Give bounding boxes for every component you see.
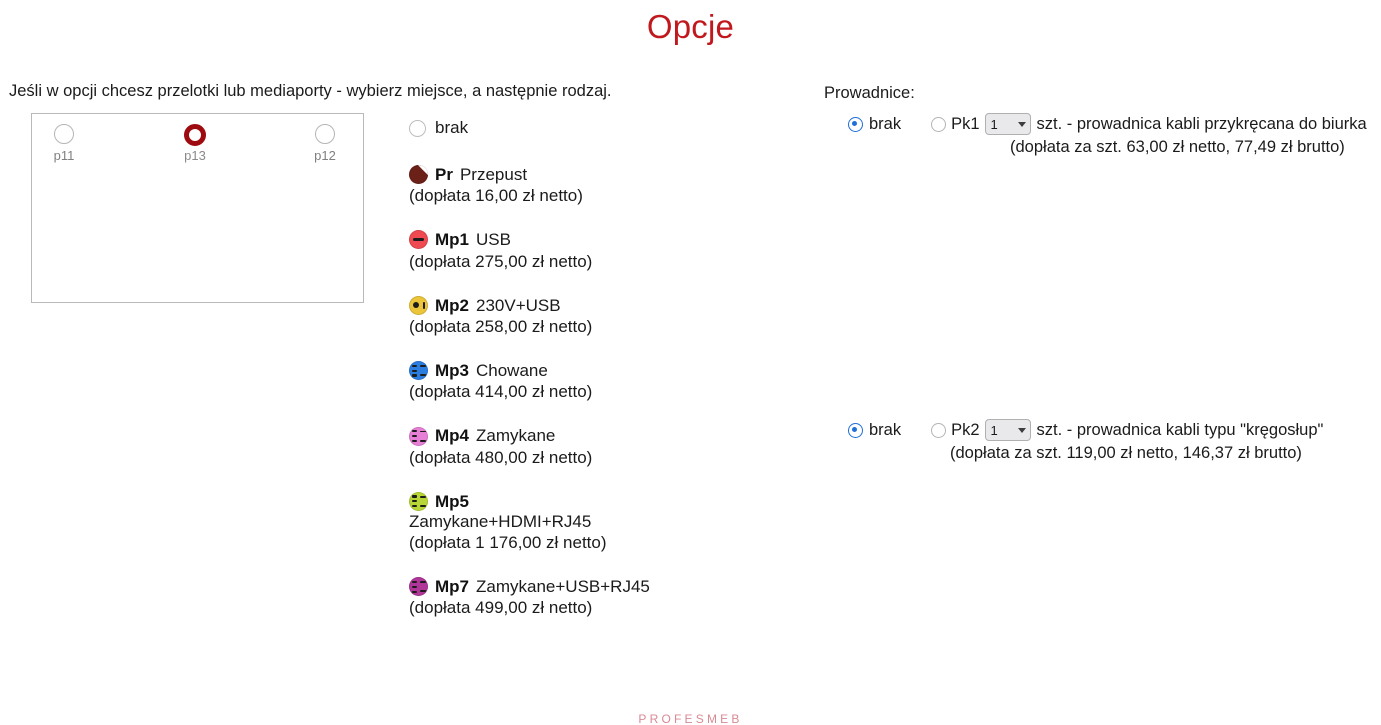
guide-price-pk2: (dopłata za szt. 119,00 zł netto, 146,37… — [824, 444, 1381, 463]
pr-pie-icon — [409, 165, 428, 184]
mediaport-option-mp1[interactable]: Mp1 USB (dopłata 275,00 zł netto) — [409, 229, 799, 272]
guide-qty-select-pk1[interactable]: 1 — [985, 113, 1031, 135]
mediaport-code-mp2: Mp2 — [435, 295, 469, 316]
mediaport-option-none[interactable]: brak — [409, 118, 799, 138]
guide-qty-value-pk2: 1 — [991, 423, 998, 438]
guide-qty-value-pk1: 1 — [991, 117, 998, 132]
mediaport-desc-pr: Przepust — [460, 164, 527, 185]
options-page: Opcje Jeśli w opcji chcesz przelotki lub… — [0, 0, 1381, 725]
mediaport-radio-none[interactable] — [409, 120, 426, 137]
placement-option-p13[interactable]: p13 — [165, 124, 225, 163]
placement-label-p12: p12 — [295, 148, 355, 163]
mediaport-label-none: brak — [435, 118, 468, 138]
mediaport-price-mp5: (dopłata 1 176,00 zł netto) — [409, 532, 799, 554]
guide-label-none-pk2: brak — [869, 421, 901, 440]
mediaport-price-mp7: (dopłata 499,00 zł netto) — [409, 597, 799, 619]
mediaport-price-mp4: (dopłata 480,00 zł netto) — [409, 447, 799, 469]
placement-radio-p13[interactable] — [184, 124, 206, 146]
placement-label-p13: p13 — [165, 148, 225, 163]
placement-radio-p12[interactable] — [315, 124, 335, 144]
footer-brand: PROFESMEB — [0, 712, 1381, 725]
guides-section: Prowadnice: brak Pk1 1 szt. - prowadnica… — [824, 84, 1381, 463]
guides-heading: Prowadnice: — [824, 84, 1381, 103]
placement-option-p11[interactable]: p11 — [34, 124, 94, 163]
mediaport-option-pr[interactable]: Pr Przepust (dopłata 16,00 zł netto) — [409, 164, 799, 207]
mediaport-options-list: brak Pr Przepust (dopłata 16,00 zł netto… — [409, 118, 799, 641]
mediaport-price-pr: (dopłata 16,00 zł netto) — [409, 185, 799, 207]
mediaport-option-mp3[interactable]: Mp3 Chowane (dopłata 414,00 zł netto) — [409, 360, 799, 403]
mediaport-option-mp4[interactable]: Mp4 Zamykane (dopłata 480,00 zł netto) — [409, 425, 799, 468]
guide-unit-text-pk2: szt. - prowadnica kabli typu "kręgosłup" — [1037, 421, 1324, 440]
guide-label-none-pk1: brak — [869, 115, 901, 134]
mediaport-desc-mp2: 230V+USB — [476, 295, 561, 316]
chevron-down-icon — [1018, 122, 1026, 127]
mediaport-code-mp4: Mp4 — [435, 425, 469, 446]
guide-unit-text-pk1: szt. - prowadnica kabli przykręcana do b… — [1037, 115, 1367, 134]
mp5-hdmi-icon — [409, 492, 428, 511]
mediaport-desc-mp5: Zamykane+HDMI+RJ45 — [409, 512, 799, 532]
mp1-usb-icon — [409, 230, 428, 249]
mediaport-option-mp5[interactable]: Mp5 Zamykane+HDMI+RJ45 (dopłata 1 176,00… — [409, 491, 799, 554]
placement-radio-p11[interactable] — [54, 124, 74, 144]
mediaport-price-mp3: (dopłata 414,00 zł netto) — [409, 381, 799, 403]
mediaport-code-mp7: Mp7 — [435, 576, 469, 597]
chevron-down-icon — [1018, 428, 1026, 433]
mediaport-desc-mp1: USB — [476, 229, 511, 250]
placement-option-p12[interactable]: p12 — [295, 124, 355, 163]
mediaport-code-mp1: Mp1 — [435, 229, 469, 250]
mediaport-price-mp2: (dopłata 258,00 zł netto) — [409, 316, 799, 338]
guide-price-pk1: (dopłata za szt. 63,00 zł netto, 77,49 z… — [824, 138, 1381, 157]
mediaport-desc-mp7: Zamykane+USB+RJ45 — [476, 576, 650, 597]
mediaport-desc-mp3: Chowane — [476, 360, 548, 381]
mediaport-option-mp2[interactable]: Mp2 230V+USB (dopłata 258,00 zł netto) — [409, 295, 799, 338]
mediaport-code-mp3: Mp3 — [435, 360, 469, 381]
placement-diagram: p11 p13 p12 — [31, 113, 364, 303]
mediaport-code-mp5: Mp5 — [435, 491, 469, 512]
guide-qty-select-pk2[interactable]: 1 — [985, 419, 1031, 441]
mp2-socket-icon — [409, 296, 428, 315]
guide-label-pk2: Pk2 — [951, 421, 979, 440]
mediaport-desc-mp4: Zamykane — [476, 425, 555, 446]
mediaport-option-mp7[interactable]: Mp7 Zamykane+USB+RJ45 (dopłata 499,00 zł… — [409, 576, 799, 619]
mp7-usb-rj45-icon — [409, 577, 428, 596]
instruction-text: Jeśli w opcji chcesz przelotki lub media… — [9, 82, 612, 101]
mediaport-price-mp1: (dopłata 275,00 zł netto) — [409, 251, 799, 273]
mediaport-code-pr: Pr — [435, 164, 453, 185]
mp4-closable-icon — [409, 427, 428, 446]
page-title: Opcje — [0, 8, 1381, 46]
guide-block-pk1: brak Pk1 1 szt. - prowadnica kabli przyk… — [824, 113, 1381, 157]
guide-radio-pk1[interactable] — [931, 117, 946, 132]
guide-radio-pk2[interactable] — [931, 423, 946, 438]
guide-label-pk1: Pk1 — [951, 115, 979, 134]
mp3-hidden-icon — [409, 361, 428, 380]
placement-label-p11: p11 — [34, 148, 94, 163]
guide-radio-none-pk1[interactable] — [848, 117, 863, 132]
guide-radio-none-pk2[interactable] — [848, 423, 863, 438]
guide-block-pk2: brak Pk2 1 szt. - prowadnica kabli typu … — [824, 419, 1381, 463]
